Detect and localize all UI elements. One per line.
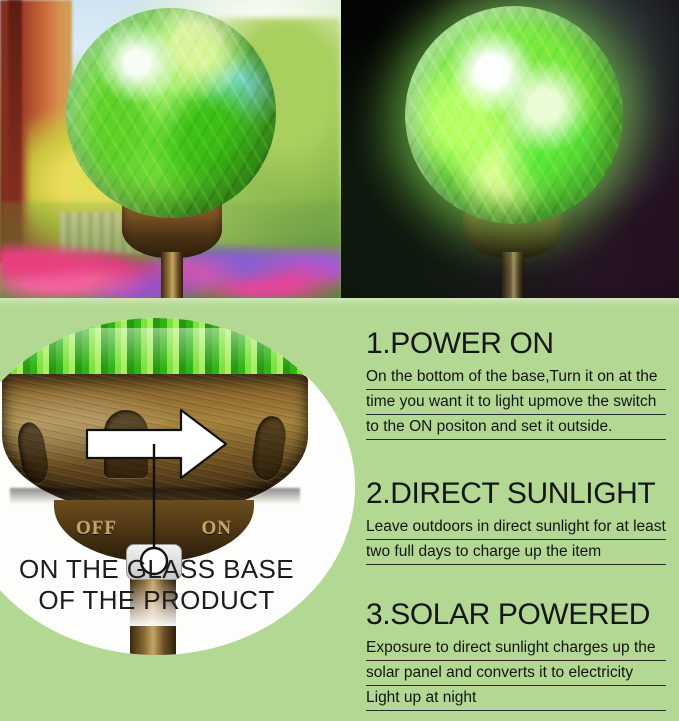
product-infographic: OFF ON ON THE GLASS BASE OF THE PRODUCT … (0, 0, 679, 679)
arrow-icon (87, 410, 226, 478)
step-1-line-1: On the bottom of the base,Turn it on at … (366, 365, 666, 390)
step-spacer-2 (366, 575, 666, 597)
step-3-line-3: Light up at night (366, 686, 666, 711)
step-1-line-3: to the ON positon and set it outside. (366, 415, 666, 440)
gazing-ball-night (405, 6, 623, 224)
base-detail-caption: ON THE GLASS BASE OF THE PRODUCT (0, 554, 355, 616)
steps-column: 1.POWER ON On the bottom of the base,Tur… (366, 326, 666, 721)
caption-line-2: OF THE PRODUCT (0, 585, 355, 616)
step-3-title: 3.SOLAR POWERED (366, 597, 666, 633)
step-power-on: 1.POWER ON On the bottom of the base,Tur… (366, 326, 666, 440)
photo-strip (0, 0, 679, 306)
step-1-title: 1.POWER ON (366, 326, 666, 362)
caption-line-1: ON THE GLASS BASE (0, 554, 355, 585)
daytime-garden-photo (0, 0, 341, 306)
step-1-body: On the bottom of the base,Turn it on at … (366, 365, 666, 440)
step-2-line-2: two full days to charge up the item (366, 540, 666, 565)
nighttime-illuminated-photo (341, 0, 679, 306)
step-1-line-2: time you want it to light upmove the swi… (366, 390, 666, 415)
step-3-line-2: solar panel and converts it to electrici… (366, 661, 666, 686)
step-direct-sunlight: 2.DIRECT SUNLIGHT Leave outdoors in dire… (366, 476, 666, 565)
glass-texture (66, 8, 276, 218)
step-2-title: 2.DIRECT SUNLIGHT (366, 476, 666, 512)
photo-divider (0, 298, 679, 306)
instruction-panel: OFF ON ON THE GLASS BASE OF THE PRODUCT … (0, 306, 679, 679)
step-spacer-1 (366, 450, 666, 476)
step-3-body: Exposure to direct sunlight charges up t… (366, 636, 666, 711)
step-2-line-1: Leave outdoors in direct sunlight for at… (366, 515, 666, 540)
gazing-ball-day (66, 8, 276, 218)
step-3-line-1: Exposure to direct sunlight charges up t… (366, 636, 666, 661)
step-solar-powered: 3.SOLAR POWERED Exposure to direct sunli… (366, 597, 666, 711)
glass-texture (405, 6, 623, 224)
step-2-body: Leave outdoors in direct sunlight for at… (366, 515, 666, 565)
